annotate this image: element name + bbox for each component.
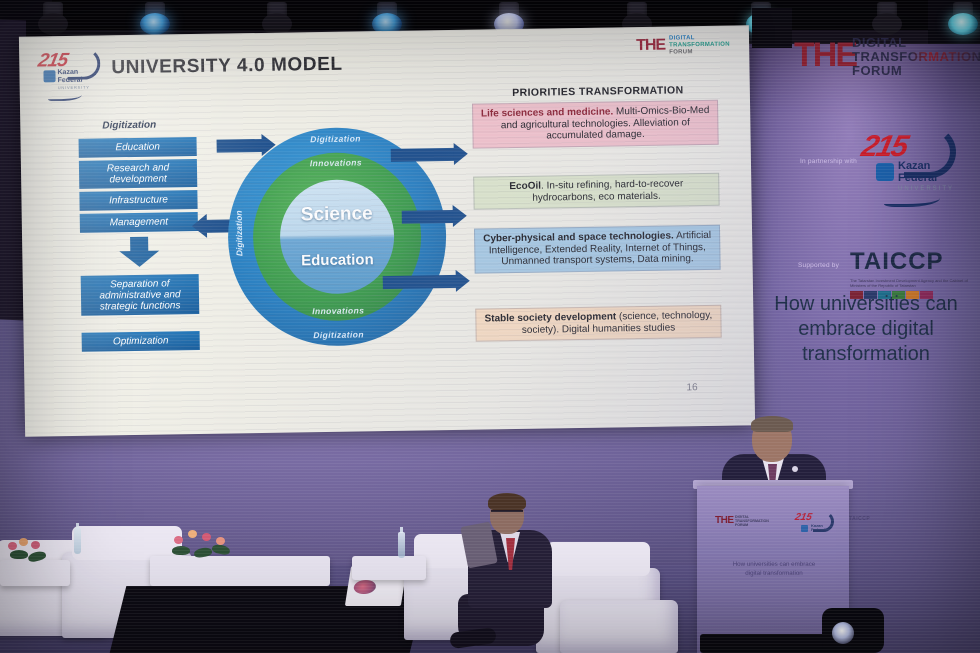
priority-card-cyber-physical: Cyber-physical and space technologies. A…: [474, 225, 721, 274]
box-optimization: Optimization: [82, 331, 200, 352]
the-line2: TRANSFORMATION: [669, 42, 730, 49]
speaker-lapel-pin: [792, 466, 798, 472]
banner-sponsor-fineprint: The Tatarstan Investment Development Age…: [850, 278, 968, 288]
box-infrastructure: Infrastructure: [79, 190, 197, 211]
armchair: [560, 600, 678, 653]
delegate-hair: [488, 493, 526, 511]
podium-the-logo: THE DIGITAL TRANSFORMATION FORUM: [715, 514, 775, 530]
the-line1: DIGITAL: [669, 35, 695, 41]
kfu-subtitle-label: UNIVERSITY: [58, 85, 90, 91]
arrow-to-priority-2: [402, 210, 454, 224]
core-label-education: Education: [280, 251, 394, 270]
ring-label-digitization-bottom: Digitization: [230, 328, 448, 341]
side-table: [0, 560, 70, 586]
banner-the-logo: THE DIGITAL TRANSFORMATION FORUM: [794, 28, 974, 86]
stage-light-icon: [138, 2, 172, 32]
podium-kfu-line2: Federal: [811, 527, 825, 532]
core-label-science: Science: [280, 203, 394, 227]
banner-headline: How universities can embrace digital tra…: [752, 292, 980, 367]
event-banner: THE DIGITAL TRANSFORMATION FORUM In part…: [752, 0, 980, 480]
banner-kfu-name: Kazan Federal: [898, 161, 937, 184]
podium-kfu-name: Kazan Federal: [811, 524, 825, 533]
podium-headline: How universities can embrace digital tra…: [715, 560, 833, 578]
podium-kfu-anniversary: 215: [794, 512, 813, 523]
banner-the-line3: FORUM: [852, 63, 902, 78]
priority-card-life-sciences: Life sciences and medicine. Multi-Omics-…: [472, 100, 719, 149]
stage-light-icon: [492, 2, 526, 32]
stage-light-icon: [260, 2, 294, 32]
placard-badge-icon: [353, 580, 377, 594]
banner-the-line1: DIGITAL: [852, 35, 907, 50]
slide-title: UNIVERSITY 4.0 MODEL: [111, 54, 343, 80]
podium-sponsor-logo: TAICCP: [849, 516, 870, 522]
coffee-table: [150, 556, 330, 586]
delegate-glasses-icon: [491, 510, 523, 519]
priority-2-bold: EcoOil: [509, 181, 541, 192]
down-arrow-icon: [119, 237, 159, 270]
podium-kfu-logo: 215 Kazan Federal: [793, 512, 841, 536]
the-line3: FORUM: [669, 49, 693, 55]
slide-kfu-logo: 215 Kazan Federal UNIVERSITY: [37, 47, 100, 98]
kfu-crest-icon: [876, 163, 894, 181]
podium-the-wordmark: THE: [715, 515, 734, 526]
ring-label-innovations-bottom: Innovations: [229, 304, 447, 317]
kfu-name-line2: Federal: [58, 76, 83, 83]
box-management: Management: [80, 212, 198, 233]
speaker-hair: [751, 416, 793, 432]
banner-kfu-line1: Kazan: [898, 160, 930, 172]
banner-partnership-label: In partnership with: [800, 158, 857, 165]
side-table: [352, 556, 426, 580]
box-education: Education: [79, 137, 197, 158]
stage-light-icon: [370, 2, 404, 32]
arrow-to-priority-1: [391, 148, 455, 162]
delegate-tablet: [460, 522, 497, 569]
kfu-crest-icon: [43, 70, 55, 82]
the-wordmark: THE: [636, 37, 665, 55]
priority-card-stable-society: Stable society development (science, tec…: [475, 305, 721, 342]
ring-label-digitization-left: Digitization: [233, 198, 244, 268]
podium-headline-line1: How universities can embrace: [733, 561, 816, 568]
stage-light-icon: [36, 2, 70, 32]
flower-arrangement: [168, 528, 238, 558]
banner-the-line2: TRANSFORMATION: [852, 49, 980, 64]
priority-card-ecooil: EcoOil. In-situ refining, hard-to-recove…: [473, 173, 719, 210]
box-research: Research and development: [79, 159, 197, 189]
slide-the-logo: THE DIGITAL TRANSFORMATION FORUM: [636, 33, 746, 61]
kfu-swoosh-icon: [48, 91, 82, 102]
arrow-to-priority-3: [383, 275, 457, 289]
kfu-name-label: Kazan Federal: [57, 69, 82, 84]
floor-spotlight: [822, 608, 884, 653]
banner-kfu-logo: 215 Kazan Federal UNIVERSITY: [854, 130, 964, 205]
projection-screen: 215 Kazan Federal UNIVERSITY UNIVERSITY …: [19, 25, 755, 436]
slide-page-number: 16: [686, 382, 697, 393]
banner-kfu-anniversary: 215: [858, 130, 909, 164]
conference-photo: 215 Kazan Federal UNIVERSITY UNIVERSITY …: [0, 0, 980, 653]
kfu-name-line1: Kazan: [57, 69, 78, 76]
kfu-crest-icon: [801, 525, 808, 532]
banner-supported-label: Supported by: [798, 262, 839, 269]
box-separation: Separation of administrative and strateg…: [81, 274, 200, 316]
podium-headline-line2: digital transformation: [745, 570, 802, 577]
flower-arrangement: [6, 536, 56, 562]
water-bottle: [398, 532, 405, 558]
podium-the-sub: DIGITAL TRANSFORMATION FORUM: [735, 515, 769, 527]
arrow-to-priority-1-stub: [217, 139, 263, 153]
priority-2-text: . In-situ refining, hard-to-recover hydr…: [532, 178, 683, 203]
podium-the-line3: FORUM: [735, 523, 748, 527]
banner-sponsor-name: TAICCP: [850, 248, 968, 276]
water-bottle: [74, 528, 81, 554]
kfu-swoosh-icon: [884, 192, 940, 207]
seated-delegate: [452, 496, 572, 653]
banner-the-wordmark: THE: [794, 36, 856, 75]
priorities-header: PRIORITIES TRANSFORMATION: [472, 84, 724, 100]
digitization-caption: Digitization: [102, 120, 156, 132]
banner-kfu-line2: Federal: [898, 172, 937, 184]
